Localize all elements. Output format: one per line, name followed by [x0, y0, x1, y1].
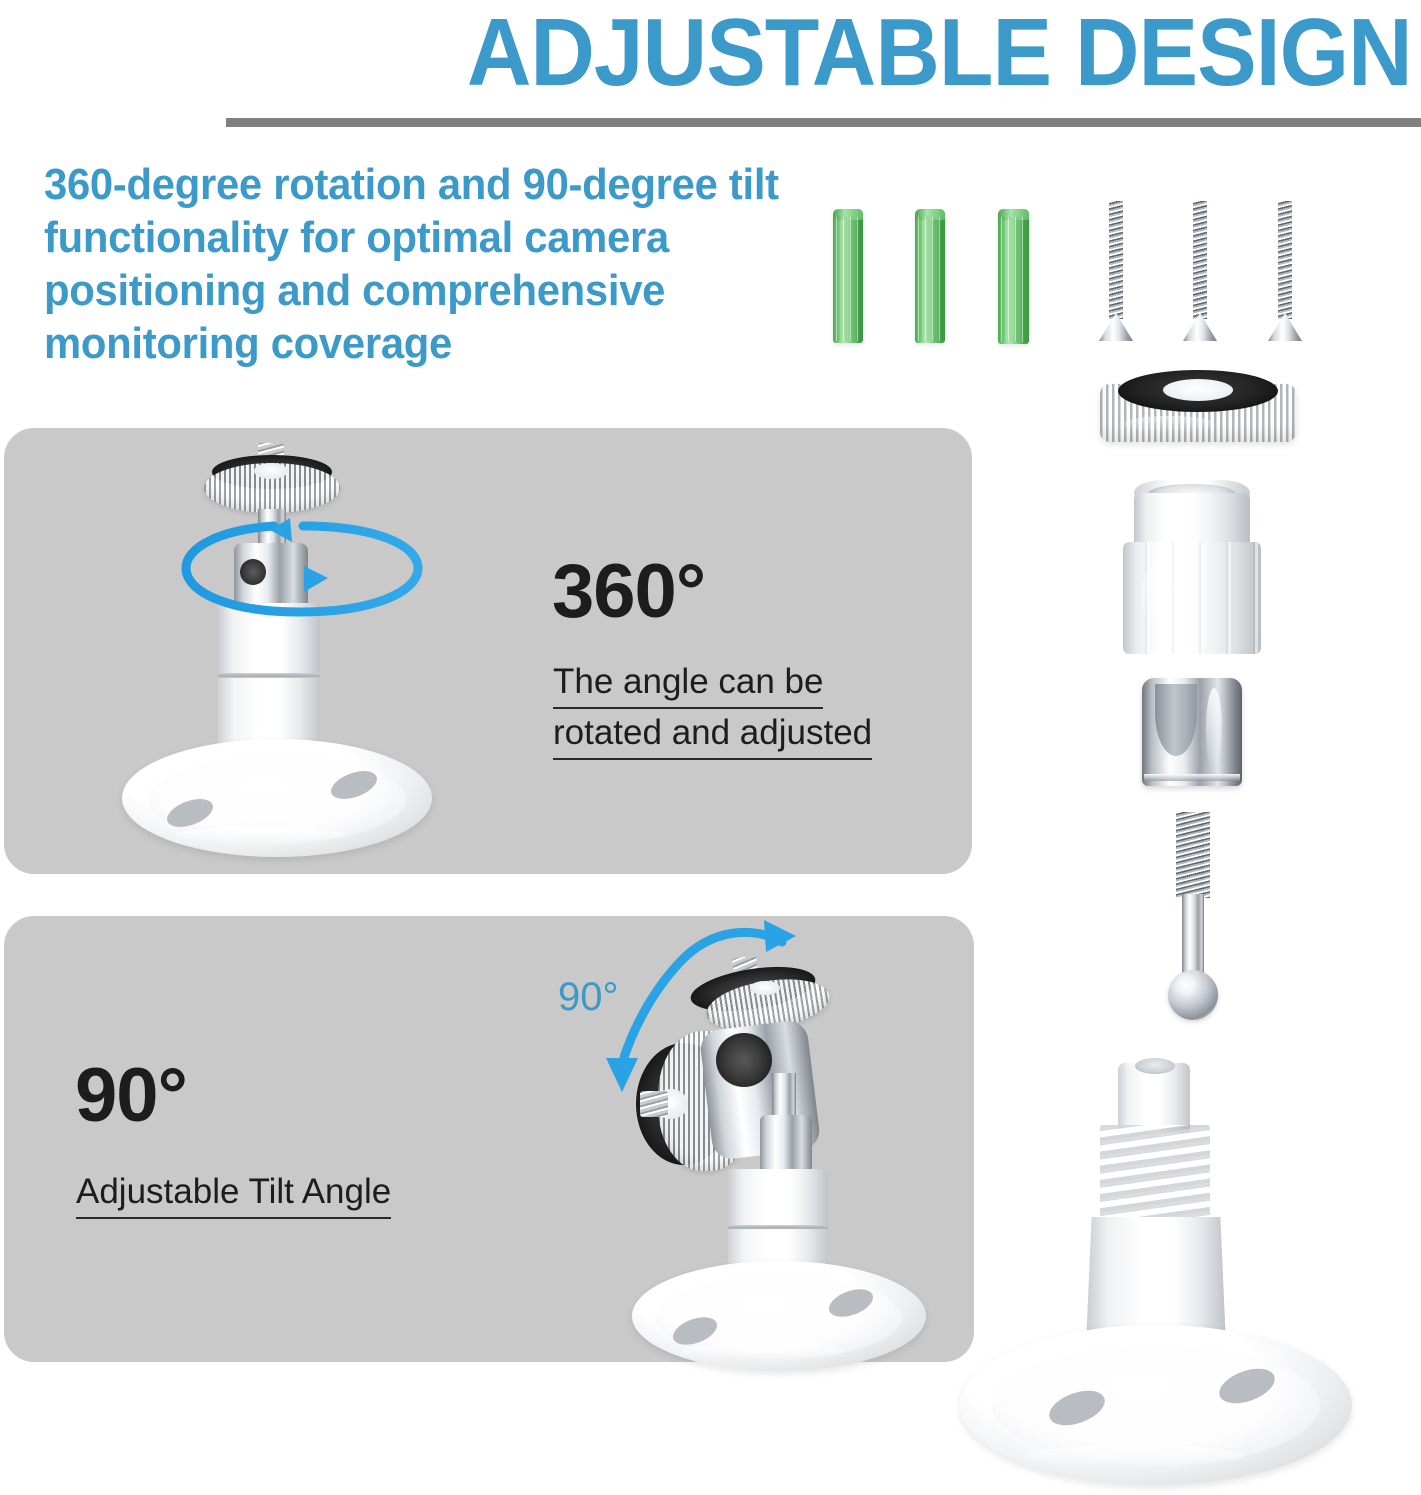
panel-90-caption-line1: Adjustable Tilt Angle	[76, 1168, 391, 1219]
chrome-socket-cap	[1142, 678, 1242, 800]
anchor-ribs	[833, 217, 863, 341]
green-wall-anchor	[998, 209, 1029, 344]
tilt-curved-arrow	[604, 918, 804, 1108]
tilt-angle-badge: 90°	[558, 977, 619, 1017]
silver-screw	[1096, 199, 1136, 345]
threaded-base-mount	[960, 1055, 1380, 1490]
rotation-ellipse-arrow	[178, 516, 428, 624]
green-wall-anchor	[915, 209, 945, 343]
panel-360-caption-line2: rotated and adjusted	[553, 709, 872, 760]
panel-360-caption: The angle can be rotated and adjusted	[553, 658, 953, 760]
silver-screw	[1180, 199, 1220, 345]
panel-90-number: 90°	[75, 1058, 187, 1134]
silver-screw	[1265, 199, 1305, 345]
lock-collar	[1123, 480, 1261, 656]
knurled-thumb-nut	[1100, 370, 1296, 452]
green-wall-anchor	[833, 209, 863, 343]
page-title: ADJUSTABLE DESIGN	[99, 0, 1421, 112]
header-divider	[226, 118, 1421, 127]
panel-360-caption-line1: The angle can be	[553, 658, 823, 709]
ball-head-stud-screw	[1160, 812, 1226, 1048]
subtitle-text: 360-degree rotation and 90-degree tilt f…	[44, 158, 795, 370]
anchor-ribs	[998, 217, 1029, 342]
panel-360-number: 360°	[552, 554, 705, 630]
anchor-ribs	[915, 217, 945, 341]
panel-90-caption: Adjustable Tilt Angle	[76, 1168, 496, 1219]
camera-mount-bracket-rotation	[122, 443, 452, 843]
